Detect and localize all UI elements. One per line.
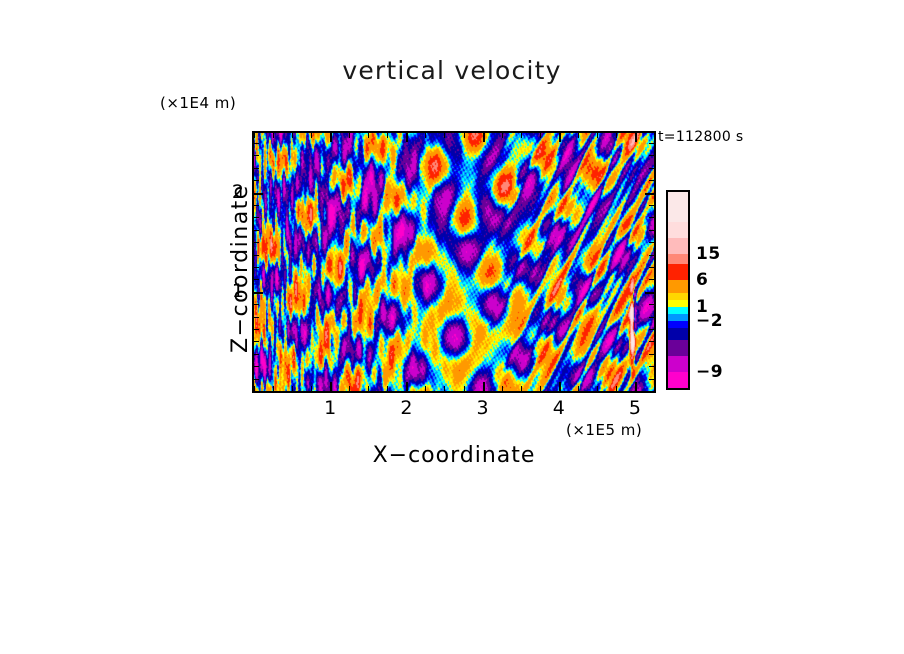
x-tick-mark [540,386,541,391]
y-tick-mark [649,317,654,318]
x-tick-mark [559,382,561,391]
x-tick-mark [464,133,465,138]
colorbar-tick-label: 6 [696,270,708,290]
y-tick-mark [254,391,259,392]
x-tick-mark [616,386,617,391]
colorbar-band [668,339,688,356]
x-tick-mark [578,133,579,138]
y-tick-mark [254,143,259,144]
x-tick-mark [483,382,485,391]
y-tick-mark [254,180,259,181]
colorbar-tick-label: −9 [696,362,723,382]
x-tick-label: 1 [310,397,350,419]
contour-plot-area [252,131,656,393]
y-tick-mark [649,205,654,206]
chart-title: vertical velocity [0,56,904,85]
colorbar-band [668,292,688,300]
y-tick-mark [254,304,259,305]
x-tick-mark [635,382,637,391]
x-tick-mark [654,133,655,138]
colorbar-band [668,237,688,254]
y-tick-mark [649,255,654,256]
y-tick-mark [649,242,654,243]
colorbar-band [668,327,688,340]
y-tick-mark [649,155,654,156]
x-tick-mark [483,133,485,142]
colorbar-band [668,313,688,321]
x-tick-mark [540,133,541,138]
x-tick-label: 5 [615,397,655,419]
x-tick-mark [368,386,369,391]
y-tick-mark [254,341,259,342]
y-tick-mark [649,143,654,144]
y-tick-mark [649,391,654,392]
y-tick-mark [254,168,259,169]
x-tick-mark [444,133,445,138]
colorbar-band [668,371,688,388]
x-tick-mark [578,386,579,391]
y-tick-label: 1 [214,280,244,302]
y-tick-mark [645,193,654,195]
y-axis-units: (×1E4 m) [160,94,236,112]
x-tick-mark [273,133,274,138]
x-tick-mark [616,133,617,138]
x-tick-mark [597,133,598,138]
x-tick-mark [254,133,255,138]
x-tick-label: 4 [539,397,579,419]
x-tick-mark [559,133,561,142]
x-tick-mark [406,133,408,142]
y-tick-mark [254,217,259,218]
y-tick-mark [649,354,654,355]
y-tick-mark [254,205,259,206]
y-tick-mark [254,317,259,318]
x-axis-units: (×1E5 m) [566,421,642,439]
y-tick-mark [649,180,654,181]
x-tick-mark [330,382,332,391]
x-tick-mark [292,133,293,138]
y-tick-mark [254,379,259,380]
x-tick-mark [311,133,312,138]
x-tick-mark [597,386,598,391]
y-tick-mark [649,267,654,268]
y-tick-mark [649,341,654,342]
colorbar-band [668,253,688,264]
x-tick-mark [425,386,426,391]
colorbar-band [668,299,688,307]
y-tick-mark [649,366,654,367]
timestamp-annotation: t=112800 s [658,129,743,145]
colorbar-tick-label: 15 [696,244,721,264]
x-tick-mark [387,386,388,391]
x-tick-mark [425,133,426,138]
x-tick-mark [635,133,637,142]
y-tick-mark [254,279,259,280]
colorbar-band [668,191,688,222]
colorbar-band [668,306,688,314]
colorbar-band [668,320,688,328]
y-tick-mark [649,217,654,218]
colorbar-band [668,221,688,238]
colorbar [666,190,690,390]
x-tick-mark [368,133,369,138]
y-tick-mark [254,193,263,195]
y-tick-mark [254,354,259,355]
y-tick-mark [254,292,263,294]
y-tick-mark [254,155,259,156]
x-tick-mark [464,386,465,391]
x-tick-mark [444,386,445,391]
y-tick-mark [649,168,654,169]
y-tick-mark [254,329,259,330]
y-tick-mark [254,366,259,367]
y-axis-title: Z−coordinate [228,184,253,353]
colorbar-band [668,279,688,293]
x-tick-mark [349,386,350,391]
contour-field [254,133,654,391]
colorbar-band [668,263,688,280]
x-tick-label: 3 [463,397,503,419]
y-tick-mark [254,255,259,256]
x-tick-mark [654,386,655,391]
x-tick-mark [406,382,408,391]
x-tick-mark [502,386,503,391]
x-tick-mark [387,133,388,138]
x-tick-label: 2 [386,397,426,419]
x-tick-mark [292,386,293,391]
y-tick-mark [254,230,259,231]
x-tick-mark [330,133,332,142]
x-tick-mark [273,386,274,391]
figure-canvas: vertical velocity (×1E4 m) t=112800 s Z−… [0,0,904,654]
y-tick-mark [649,230,654,231]
colorbar-band [668,355,688,372]
y-tick-mark [649,304,654,305]
y-tick-mark [649,329,654,330]
x-axis-title: X−coordinate [252,443,656,468]
colorbar-tick-label: −2 [696,311,723,331]
y-tick-mark [254,267,259,268]
x-tick-mark [502,133,503,138]
x-tick-mark [521,386,522,391]
y-tick-mark [649,279,654,280]
x-tick-mark [349,133,350,138]
y-tick-mark [254,242,259,243]
x-tick-mark [311,386,312,391]
y-tick-label: 2 [214,181,244,203]
y-tick-mark [649,379,654,380]
x-tick-mark [521,133,522,138]
y-tick-mark [645,292,654,294]
